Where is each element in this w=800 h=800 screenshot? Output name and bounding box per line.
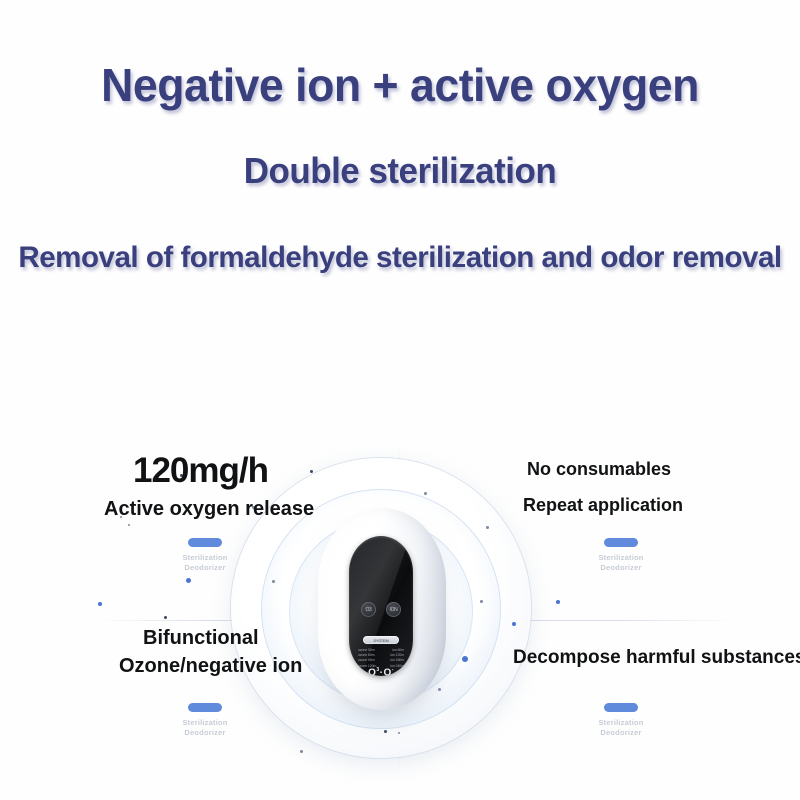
product-stage: O3 ION SYSTEM ozone 30mion 60mozone 60mi… bbox=[0, 420, 800, 800]
feature-bifunctional-caption: Ozone/negative ion bbox=[119, 655, 302, 678]
watermark-line-1: Sterilization bbox=[150, 718, 260, 728]
watermark-pill-icon bbox=[188, 538, 222, 547]
watermark-bottom-left: Sterilization Deodorizer bbox=[150, 703, 260, 737]
watermark-pill-icon bbox=[604, 703, 638, 712]
ion-mode-icon: ION bbox=[386, 602, 401, 617]
particle-dot bbox=[128, 524, 130, 526]
particle-dot bbox=[272, 580, 275, 583]
page-title: Negative ion + active oxygen bbox=[12, 58, 788, 112]
ozone-mode-button[interactable]: O3 bbox=[361, 602, 376, 617]
watermark-bottom-right: Sterilization Deodorizer bbox=[566, 703, 676, 737]
watermark-line-2: Deodorizer bbox=[566, 563, 676, 573]
watermark-pill-icon bbox=[188, 703, 222, 712]
particle-dot bbox=[486, 526, 489, 529]
device-brand-logo: O3·O- bbox=[349, 667, 413, 676]
watermark-line-1: Sterilization bbox=[566, 718, 676, 728]
particle-dot bbox=[424, 492, 427, 495]
ozone-generator-device: O3 ION SYSTEM ozone 30mion 60mozone 60mi… bbox=[318, 508, 446, 710]
feature-bifunctional: Bifunctional bbox=[143, 627, 259, 650]
particle-dot bbox=[310, 470, 313, 473]
particle-dot bbox=[186, 578, 191, 583]
device-display: SYSTEM bbox=[363, 636, 399, 644]
feature-decompose-harmful-substances: Decompose harmful substances bbox=[513, 647, 800, 669]
particle-dot bbox=[398, 732, 400, 734]
watermark-top-left: Sterilization Deodorizer bbox=[150, 538, 260, 572]
watermark-top-right: Sterilization Deodorizer bbox=[566, 538, 676, 572]
particle-dot bbox=[438, 688, 441, 691]
particle-dot bbox=[480, 600, 483, 603]
watermark-line-1: Sterilization bbox=[150, 553, 260, 563]
ion-mode-button[interactable]: ION bbox=[386, 602, 401, 617]
particle-dot bbox=[98, 602, 102, 606]
particle-dot bbox=[512, 622, 516, 626]
page-subtitle: Double sterilization bbox=[12, 150, 788, 192]
particle-dot bbox=[384, 730, 387, 733]
particle-dot bbox=[164, 616, 167, 619]
particle-dot bbox=[300, 750, 303, 753]
feature-no-consumables: No consumables bbox=[527, 459, 671, 480]
particle-dot bbox=[556, 600, 560, 604]
feature-ozone-rate: 120mg/h bbox=[133, 451, 268, 491]
watermark-line-2: Deodorizer bbox=[150, 728, 260, 738]
logo-o2-letter: O bbox=[383, 667, 391, 676]
logo-o2-superscript: - bbox=[392, 667, 394, 673]
page-tagline: Removal of formaldehyde sterilization an… bbox=[6, 241, 794, 275]
device-timer-legend: ozone 30mion 60mozone 60mion 120mozone 9… bbox=[358, 648, 404, 669]
feature-ozone-rate-caption: Active oxygen release bbox=[104, 498, 314, 521]
watermark-line-2: Deodorizer bbox=[566, 728, 676, 738]
product-marketing-banner: Negative ion + active oxygen Double ster… bbox=[0, 0, 800, 800]
ozone-mode-icon: O3 bbox=[361, 602, 376, 617]
watermark-line-2: Deodorizer bbox=[150, 563, 260, 573]
feature-repeat-application: Repeat application bbox=[523, 495, 683, 516]
particle-dot bbox=[462, 656, 468, 662]
watermark-pill-icon bbox=[604, 538, 638, 547]
device-control-panel: O3 ION SYSTEM ozone 30mion 60mozone 60mi… bbox=[349, 536, 413, 676]
watermark-line-1: Sterilization bbox=[566, 553, 676, 563]
